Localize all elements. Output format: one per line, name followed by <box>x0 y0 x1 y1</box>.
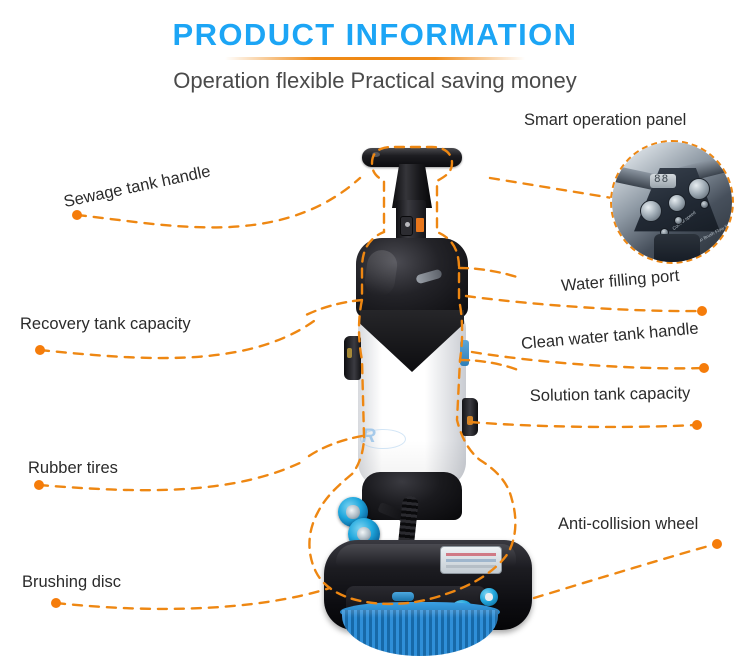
leader-solution-tank-capacity <box>470 422 695 427</box>
label-rubber-tires: Rubber tires <box>28 458 118 478</box>
label-smart-operation-panel: Smart operation panel <box>524 110 686 130</box>
dot-solution-tank-capacity <box>692 420 702 430</box>
label-recovery-tank-capacity: Recovery tank capacity <box>20 314 191 334</box>
leader-smart-operation-panel <box>490 178 612 198</box>
dot-water-filling-port <box>697 306 707 316</box>
panel-dial-button <box>640 200 662 222</box>
panel-small-button <box>700 200 709 209</box>
panel-base-column <box>654 234 700 264</box>
label-brushing-disc: Brushing disc <box>22 572 121 592</box>
leader-anti-collision-wheel <box>534 544 716 598</box>
dot-rubber-tires <box>34 480 44 490</box>
panel-dial-button <box>668 194 686 212</box>
label-anti-collision-wheel: Anti-collision wheel <box>558 514 698 534</box>
smart-operation-panel-zoom-callout: Control speed Water Suction Brush Flow S… <box>610 140 734 264</box>
panel-dial-button <box>688 178 710 200</box>
dot-recovery-tank-capacity <box>35 345 45 355</box>
dot-sewage-tank-handle <box>72 210 82 220</box>
dot-brushing-disc <box>51 598 61 608</box>
leader-water-filling-port <box>466 296 700 311</box>
panel-digital-display <box>650 174 676 188</box>
panel-small-button <box>674 216 683 225</box>
leader-clean-water-tank-handle <box>472 352 703 368</box>
label-solution-tank-capacity: Solution tank capacity <box>530 383 691 406</box>
dot-clean-water-tank-handle <box>699 363 709 373</box>
dot-anti-collision-wheel <box>712 539 722 549</box>
